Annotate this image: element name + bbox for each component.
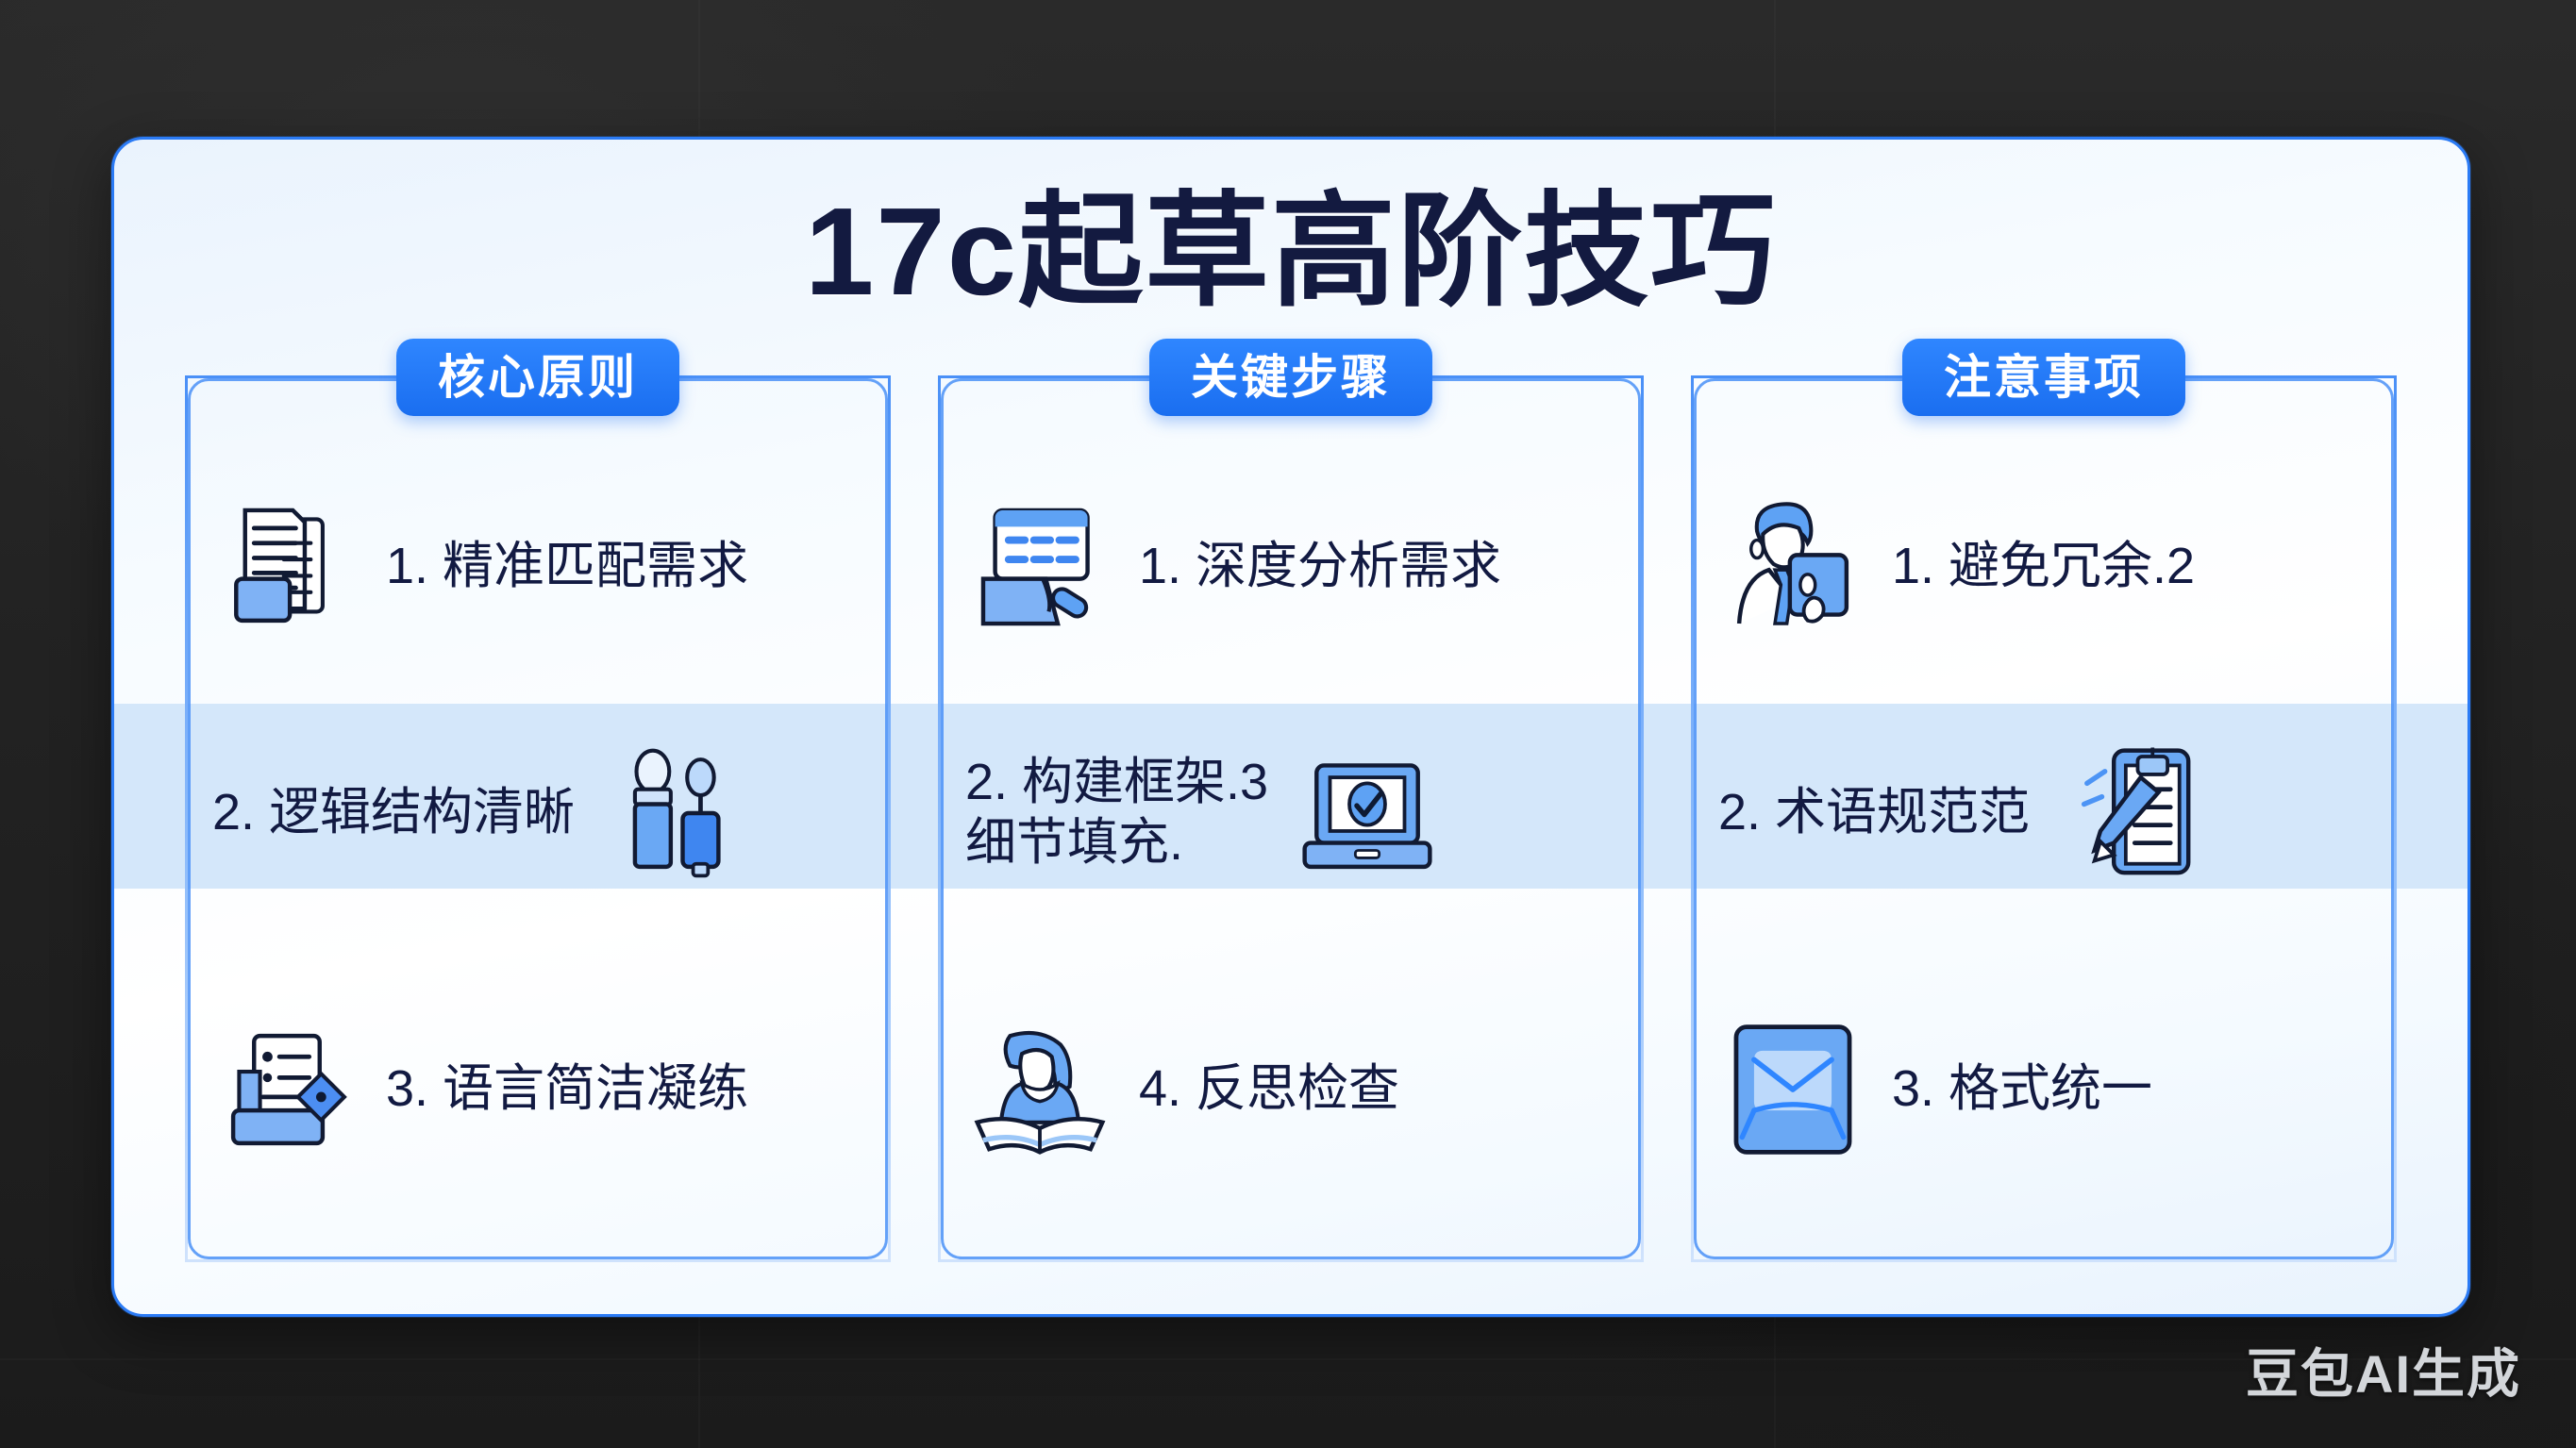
list-item-label: 1. 精准匹配需求 <box>386 537 748 597</box>
backdrop-seam <box>0 1358 2576 1360</box>
document-pen-icon <box>212 1015 361 1164</box>
list-item[interactable]: 3. 格式统一 <box>1694 920 2394 1259</box>
list-item[interactable]: 1. 深度分析需求 <box>941 427 1641 707</box>
documents-icon <box>212 492 361 641</box>
column-precautions: 注意事项 1. 避免冗余.2 <box>1691 375 2397 1262</box>
column-badge-key-steps[interactable]: 关键步骤 <box>1149 339 1432 416</box>
list-item[interactable]: 2. 构建框架.3 细节填充. <box>941 707 1641 920</box>
list-item-label: 1. 避免冗余.2 <box>1892 537 2195 597</box>
list-item-label: 3. 格式统一 <box>1892 1059 2152 1120</box>
list-item-label: 2. 术语规范范 <box>1718 783 2030 843</box>
column-key-steps: 关键步骤 <box>938 375 1644 1262</box>
reading-person-icon <box>965 1015 1114 1164</box>
list-item[interactable]: 2. 逻辑结构清晰 <box>188 707 888 920</box>
list-item-label: 4. 反思检查 <box>1139 1059 1399 1120</box>
list-item[interactable]: 1. 精准匹配需求 <box>188 427 888 707</box>
infographic-card: 17c起草高阶技巧 核心原则 <box>111 137 2470 1317</box>
screenshot-stage: 17c起草高阶技巧 核心原则 <box>0 0 2576 1448</box>
list-item[interactable]: 2. 术语规范范 <box>1694 707 2394 920</box>
column-badge-core-principles[interactable]: 核心原则 <box>396 339 679 416</box>
list-item-label: 3. 语言简洁凝练 <box>386 1059 748 1120</box>
list-item[interactable]: 1. 避免冗余.2 <box>1694 427 2394 707</box>
people-chart-icon <box>599 739 748 888</box>
column-rows: 1. 避免冗余.2 <box>1694 427 2394 1259</box>
watermark: 豆包AI生成 <box>2246 1332 2521 1408</box>
list-item[interactable]: 3. 语言简洁凝练 <box>188 920 888 1259</box>
list-item[interactable]: 4. 反思检查 <box>941 920 1641 1259</box>
presentation-board-icon <box>965 492 1114 641</box>
page-title: 17c起草高阶技巧 <box>114 185 2467 320</box>
clipboard-pencil-icon <box>2054 739 2203 888</box>
list-item-label: 2. 构建框架.3 细节填充. <box>965 753 1268 873</box>
message-icon <box>1718 1015 1867 1164</box>
list-item-label: 2. 逻辑结构清晰 <box>212 783 575 843</box>
laptop-check-icon <box>1293 739 1442 888</box>
column-core-principles: 核心原则 <box>185 375 891 1262</box>
person-tablet-icon <box>1718 492 1867 641</box>
list-item-label: 1. 深度分析需求 <box>1139 537 1501 597</box>
column-badge-precautions[interactable]: 注意事项 <box>1902 339 2185 416</box>
columns-container: 核心原则 <box>185 375 2397 1262</box>
column-rows: 1. 深度分析需求 2. 构建框架.3 细节填充. <box>941 427 1641 1259</box>
column-rows: 1. 精准匹配需求 2. 逻辑结构清晰 <box>188 427 888 1259</box>
